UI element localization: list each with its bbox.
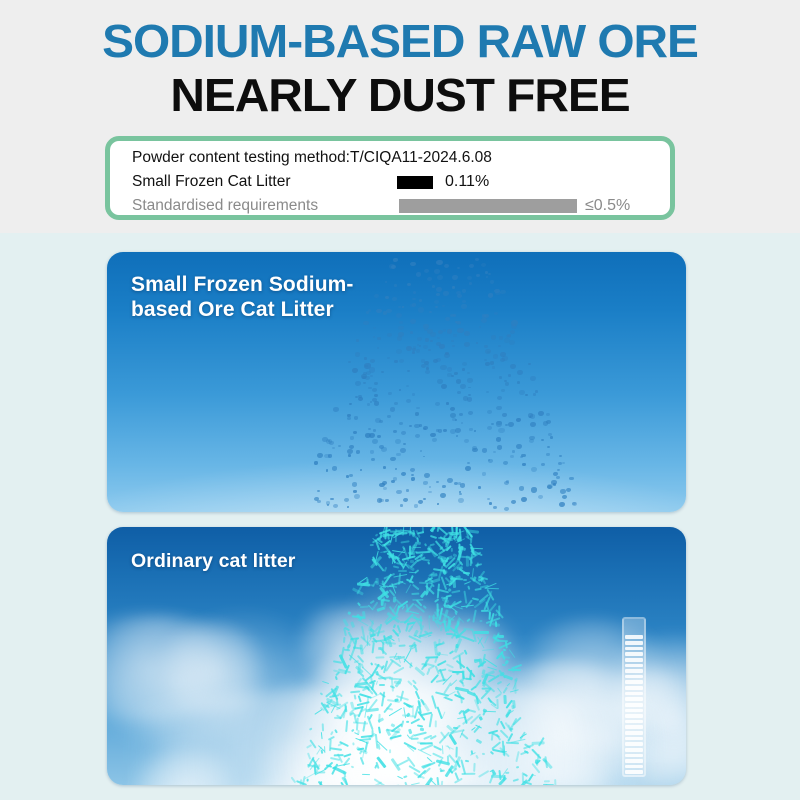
standard-row-label: Standardised requirements — [132, 194, 318, 218]
comparison-panel-ordinary: Ordinary cat litter — [107, 527, 686, 785]
panel-caption-ordinary-line1: Ordinary cat litter — [131, 549, 295, 574]
panel-caption-ordinary: Ordinary cat litter — [131, 549, 295, 574]
measurement-row-standard: Standardised requirements ≤0.5% — [132, 194, 670, 218]
page-title-primary: SODIUM-BASED RAW ORE — [0, 14, 800, 68]
testing-method-line: Powder content testing method:T/CIQA11-2… — [132, 146, 670, 170]
page-title-secondary: NEARLY DUST FREE — [0, 68, 800, 122]
product-row-label: Small Frozen Cat Litter — [132, 170, 291, 194]
comparison-panel-product: Small Frozen Sodium- based Ore Cat Litte… — [107, 252, 686, 512]
panel-caption-product-line1: Small Frozen Sodium- — [131, 272, 354, 297]
measurement-row-product: Small Frozen Cat Litter 0.11% — [132, 170, 670, 194]
panel-caption-product-line2: based Ore Cat Litter — [131, 297, 354, 322]
powder-content-info-card: Powder content testing method:T/CIQA11-2… — [105, 136, 675, 220]
standard-bar — [399, 199, 577, 213]
product-bar — [397, 176, 433, 189]
testing-method-label: Powder content testing method:T/CIQA11-2… — [132, 149, 492, 166]
info-card-content: Powder content testing method:T/CIQA11-2… — [110, 141, 670, 215]
product-value: 0.11% — [445, 170, 489, 194]
dust-level-gauge-ordinary — [622, 617, 646, 777]
standard-value: ≤0.5% — [585, 194, 630, 218]
panel-caption-product: Small Frozen Sodium- based Ore Cat Litte… — [131, 272, 354, 322]
